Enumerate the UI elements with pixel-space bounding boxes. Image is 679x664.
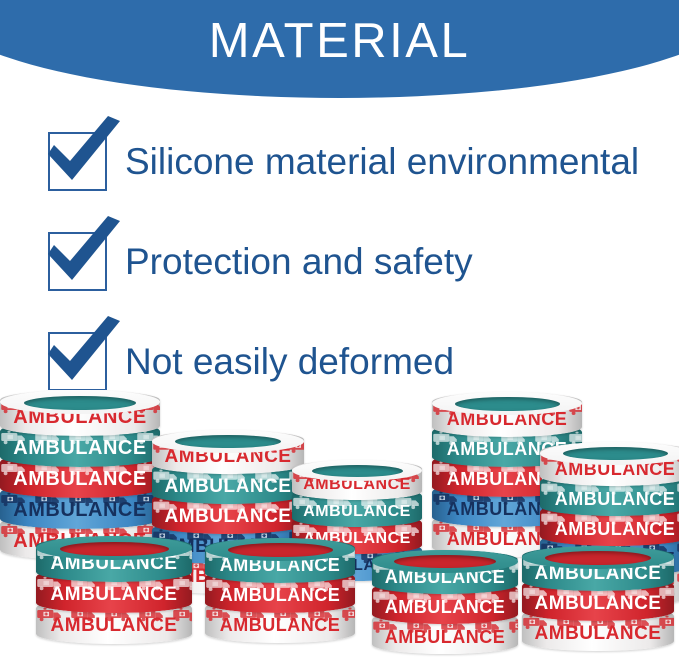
page-title: MATERIAL: [0, 13, 679, 69]
wristband-text: AMBULANCE: [522, 594, 674, 613]
wristband-text: AMBULANCE: [205, 586, 355, 605]
wristband-text: AMBULANCE: [540, 520, 679, 538]
feature-label: Protection and safety: [125, 232, 473, 291]
stack-inner-opening: [312, 465, 403, 477]
wristband-text: AMBULANCE: [152, 508, 304, 526]
wristband-text: AMBULANCE: [0, 501, 160, 520]
wristband-text: AMBULANCE: [0, 439, 160, 458]
wristband-text: AMBULANCE: [0, 470, 160, 489]
wristband-text: AMBULANCE: [152, 478, 304, 496]
stack-inner-opening: [228, 543, 333, 557]
wristband-text: AMBULANCE: [372, 628, 518, 646]
checkbox-outline: [48, 332, 107, 391]
wristband-text: AMBULANCE: [36, 585, 192, 604]
stack-inner-opening: [394, 555, 496, 568]
stack-inner-opening: [175, 435, 281, 448]
stack-inner-opening: [563, 447, 668, 460]
feature-label: Not easily deformed: [125, 332, 454, 391]
wristband-text: AMBULANCE: [540, 490, 679, 508]
wristband-text: AMBULANCE: [292, 503, 422, 520]
checkbox-outline: [48, 132, 107, 191]
stack-inner-opening: [455, 397, 560, 411]
feature-label: Silicone material environmental: [125, 132, 639, 191]
stack-inner-opening: [24, 396, 136, 410]
product-photo: AMBULANCEAMBULANCEAMBULANCEAMBULANCEAMBU…: [0, 390, 679, 664]
checkbox-outline: [48, 232, 107, 291]
wristband-text: AMBULANCE: [522, 624, 674, 643]
feature-row: Silicone material environmental: [0, 120, 679, 220]
header-banner: MATERIAL: [0, 0, 679, 100]
wristband-text: AMBULANCE: [205, 616, 355, 635]
feature-row: Protection and safety: [0, 220, 679, 320]
feature-list: Silicone material environmentalProtectio…: [0, 120, 679, 420]
wristband-text: AMBULANCE: [36, 616, 192, 635]
wristband-text: AMBULANCE: [372, 598, 518, 616]
stack-inner-opening: [60, 542, 169, 556]
stack-inner-opening: [545, 551, 651, 565]
